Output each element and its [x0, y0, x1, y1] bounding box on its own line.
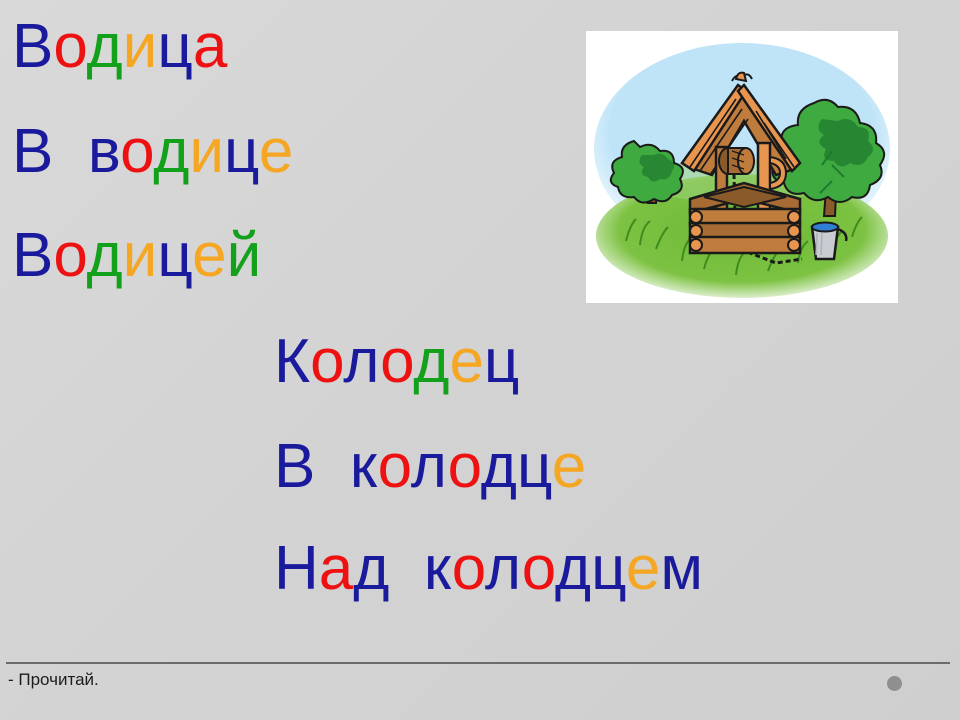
poem-char: д — [86, 12, 122, 81]
poem-char: д — [555, 534, 591, 603]
poem-char: о — [53, 12, 86, 81]
poem-char: ц — [157, 12, 193, 81]
well-crib — [690, 183, 800, 253]
poem-char: В — [12, 117, 53, 186]
poem-char: ц — [157, 221, 192, 290]
poem-char — [407, 534, 424, 603]
poem-char: и — [123, 12, 158, 81]
slide-canvas: Водица В водице Водицей Колодец В колодц… — [0, 0, 960, 720]
poem-char: е — [259, 117, 293, 186]
poem-char: д — [353, 534, 389, 603]
poem-char: д — [86, 221, 122, 290]
poem-char — [71, 117, 88, 186]
well-illustration — [586, 31, 898, 303]
poem-char: д — [153, 117, 189, 186]
poem-char — [53, 117, 70, 186]
poem-char: о — [310, 327, 343, 396]
poem-char: а — [319, 534, 353, 603]
corner-dot-decoration — [887, 676, 902, 691]
poem-char — [389, 534, 406, 603]
footer-divider — [6, 662, 950, 664]
poem-char: л — [485, 534, 522, 603]
poem-char: о — [378, 432, 411, 501]
poem-char: В — [12, 12, 53, 81]
poem-char: к — [350, 432, 378, 501]
poem-line-6: Над колодцем — [0, 538, 703, 600]
poem-char: о — [522, 534, 555, 603]
poem-char: В — [274, 432, 315, 501]
poem-char: м — [660, 534, 703, 603]
poem-char: е — [449, 327, 483, 396]
poem-char: л — [411, 432, 448, 501]
footer-note: - Прочитай. — [8, 670, 99, 690]
poem-char: о — [53, 221, 86, 290]
poem-line-2: В водице — [0, 121, 293, 183]
poem-char: й — [227, 221, 262, 290]
poem-char: и — [189, 117, 224, 186]
poem-char: к — [424, 534, 452, 603]
poem-char: К — [274, 327, 310, 396]
poem-char: о — [452, 534, 485, 603]
poem-char: е — [192, 221, 226, 290]
poem-char: и — [123, 221, 158, 290]
poem-char: е — [552, 432, 586, 501]
poem-char: Н — [274, 534, 319, 603]
poem-char: а — [193, 12, 227, 81]
poem-char: ц — [517, 432, 552, 501]
poem-char: ц — [484, 327, 520, 396]
poem-char — [333, 432, 350, 501]
poem-char: д — [481, 432, 517, 501]
well-illustration-svg — [586, 31, 898, 303]
poem-char: л — [343, 327, 380, 396]
poem-char: д — [413, 327, 449, 396]
poem-char: е — [626, 534, 660, 603]
poem-char: В — [12, 221, 53, 290]
well-winch — [719, 148, 754, 174]
poem-line-1: Водица — [0, 16, 227, 78]
poem-char: ц — [591, 534, 626, 603]
poem-line-3: Водицей — [0, 225, 261, 287]
poem-line-5: В колодце — [0, 436, 586, 498]
poem-char: о — [448, 432, 481, 501]
poem-line-4: Колодец — [0, 331, 519, 393]
poem-char: о — [380, 327, 413, 396]
poem-char: в — [88, 117, 120, 186]
poem-char: о — [120, 117, 153, 186]
poem-char — [315, 432, 332, 501]
poem-char: ц — [224, 117, 259, 186]
